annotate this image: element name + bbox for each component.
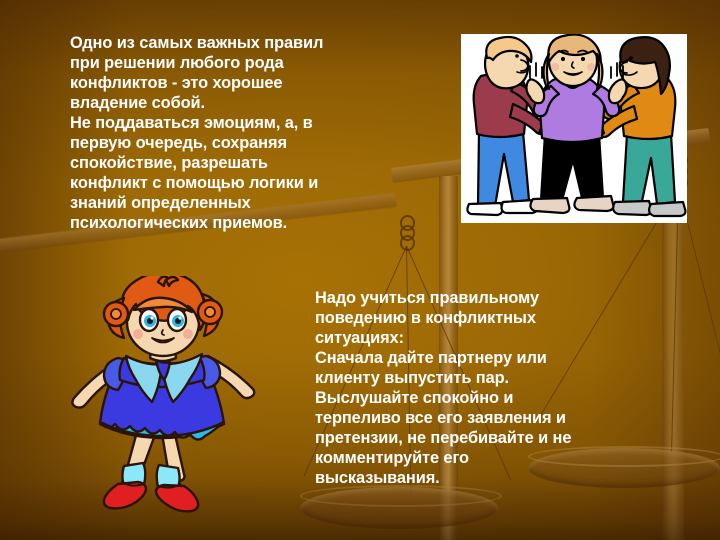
cartoon-girl-illustration bbox=[66, 276, 261, 513]
slide-canvas: Одно из самых важных правил при решении … bbox=[0, 0, 720, 540]
bottom-text-block: Надо учиться правильному поведению в кон… bbox=[315, 288, 665, 488]
cartoon-girl-clipart bbox=[66, 276, 261, 513]
three-people-mediation-clipart bbox=[461, 34, 687, 223]
three-people-illustration bbox=[461, 34, 687, 223]
top-text-block: Одно из самых важных правил при решении … bbox=[70, 33, 450, 233]
